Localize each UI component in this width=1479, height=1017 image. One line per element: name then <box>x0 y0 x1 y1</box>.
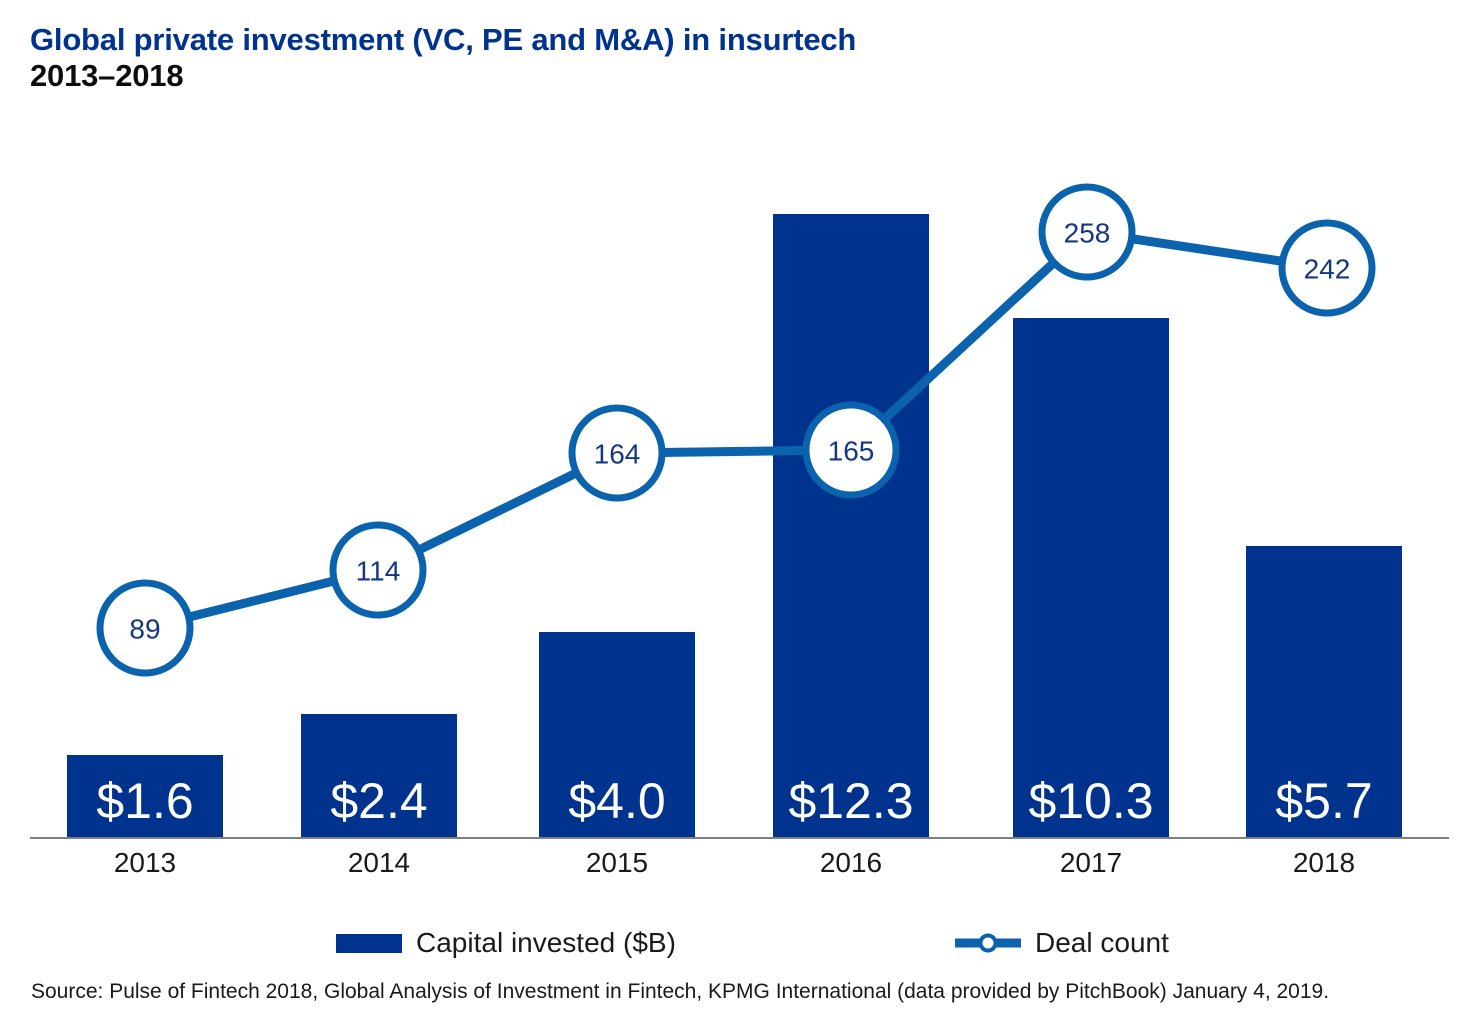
deal-count-line-segment-2013-2014 <box>187 580 337 617</box>
bar-2016[interactable] <box>773 214 929 838</box>
bar-value-label-2017: $10.3 <box>1028 773 1153 829</box>
deal-count-line-segment-2015-2016 <box>660 451 808 453</box>
legend-label-capital-invested: Capital invested ($B) <box>416 928 676 958</box>
bar-value-labels: $1.6$2.4$4.0$12.3$10.3$5.7 <box>96 773 1372 829</box>
deal-count-value-2017: 258 <box>1064 218 1111 249</box>
chart-svg: $1.6$2.4$4.0$12.3$10.3$5.7 2013201420152… <box>0 0 1479 1017</box>
deal-count-value-2015: 164 <box>594 439 641 470</box>
bar-value-label-2016: $12.3 <box>788 773 913 829</box>
legend-label-deal-count: Deal count <box>1035 928 1169 958</box>
bar-2017[interactable] <box>1013 318 1169 838</box>
category-label-2018: 2018 <box>1293 847 1355 878</box>
line-circle-marker-icon <box>955 932 1021 954</box>
deal-count-value-2016: 165 <box>828 436 875 467</box>
chart-page: Global private investment (VC, PE and M&… <box>0 0 1479 1017</box>
bar-value-label-2018: $5.7 <box>1275 773 1372 829</box>
category-label-2017: 2017 <box>1060 847 1122 878</box>
bar-series-capital-invested <box>67 214 1402 838</box>
line-circle-marker-glyph <box>955 932 1021 954</box>
deal-count-value-2014: 114 <box>356 556 401 587</box>
category-label-2014: 2014 <box>348 847 410 878</box>
category-axis-labels: 201320142015201620172018 <box>114 847 1355 878</box>
bar-value-label-2015: $4.0 <box>568 773 665 829</box>
deal-count-line-segment-2014-2015 <box>417 472 579 551</box>
deal-count-markers: 89114164165258242 <box>100 187 1372 673</box>
source-note: Source: Pulse of Fintech 2018, Global An… <box>31 980 1329 1004</box>
chart-plot-area: $1.6$2.4$4.0$12.3$10.3$5.7 2013201420152… <box>0 0 1479 1017</box>
deal-count-value-2013: 89 <box>129 614 160 645</box>
deal-count-value-2018: 242 <box>1304 254 1351 285</box>
legend-item-capital-invested[interactable]: Capital invested ($B) <box>336 920 676 966</box>
bar-value-label-2013: $1.6 <box>96 773 193 829</box>
square-swatch-icon <box>336 934 402 953</box>
legend-item-deal-count[interactable]: Deal count <box>955 920 1169 966</box>
chart-legend: Capital invested ($B) Deal count <box>0 920 1479 966</box>
deal-count-line-segment-2017-2018 <box>1130 238 1285 261</box>
category-label-2015: 2015 <box>586 847 648 878</box>
bar-value-label-2014: $2.4 <box>330 773 427 829</box>
category-label-2013: 2013 <box>114 847 176 878</box>
category-label-2016: 2016 <box>820 847 882 878</box>
